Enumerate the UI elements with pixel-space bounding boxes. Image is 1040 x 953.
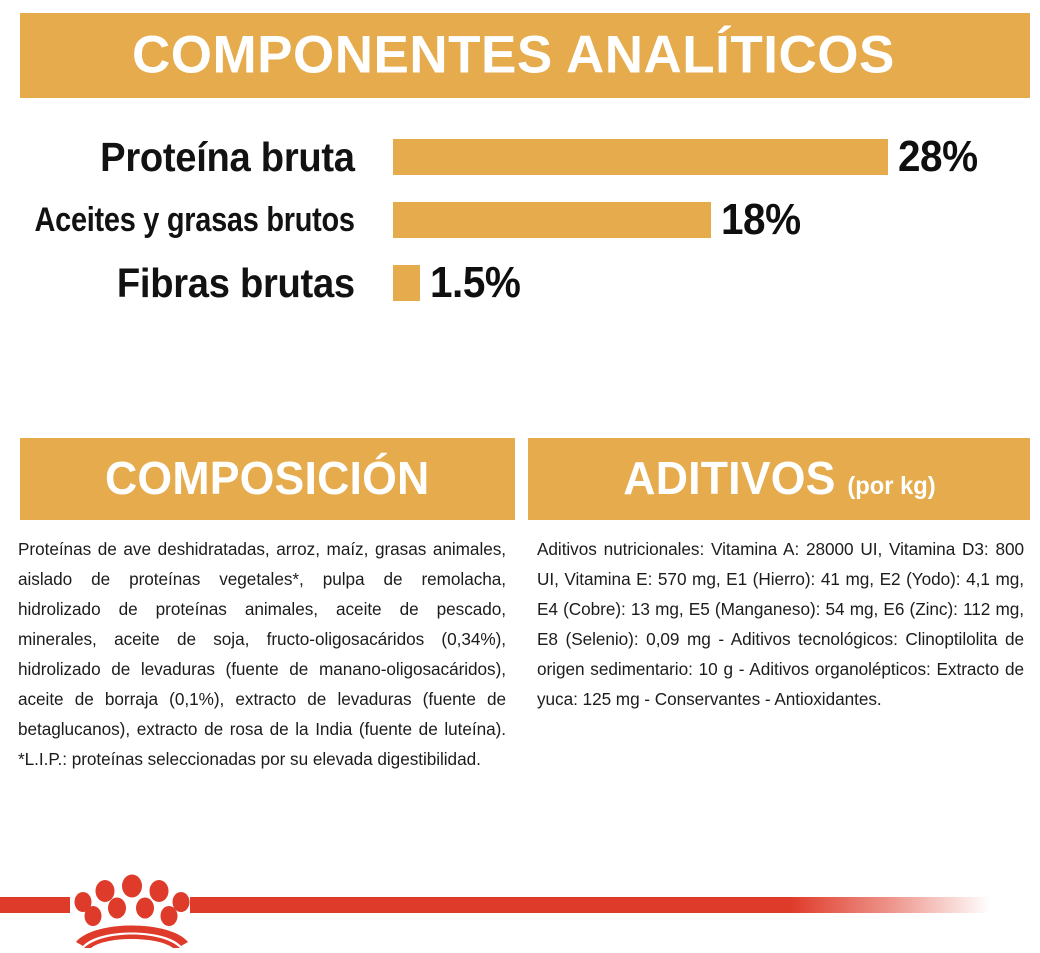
additives-title: ADITIVOS (623, 455, 835, 501)
chart-row: Aceites y grasas brutos 18% (0, 189, 1040, 251)
additives-body-text: Aditivos nutricionales: Vitamina A: 2800… (528, 534, 1024, 714)
bar-value-label: 28% (898, 131, 978, 183)
composition-section: COMPOSICIÓN Proteínas de ave deshidratad… (20, 438, 515, 774)
bar-track: 1.5% (393, 265, 923, 301)
analytical-components-chart: Proteína bruta 28% Aceites y grasas brut… (0, 126, 1040, 321)
royal-canin-crown-icon (72, 860, 192, 948)
bar-category-label: Fibras brutas (117, 252, 355, 314)
bar-category-label: Aceites y grasas brutos (35, 189, 355, 251)
bar-value-label: 1.5% (430, 257, 520, 309)
chart-row: Proteína bruta 28% (0, 126, 1040, 188)
bar-fill (393, 139, 888, 175)
composition-body-text: Proteínas de ave deshidratadas, arroz, m… (18, 534, 506, 774)
bar-fill (393, 265, 420, 301)
chart-row: Fibras brutas 1.5% (0, 252, 1040, 314)
analytical-components-banner: COMPONENTES ANALÍTICOS (20, 13, 1030, 98)
bar-fill (393, 202, 711, 238)
composition-title: COMPOSICIÓN (105, 455, 429, 501)
additives-section: ADITIVOS(por kg) Aditivos nutricionales:… (528, 438, 1030, 714)
additives-subtitle: (por kg) (847, 474, 935, 499)
bar-category-label: Proteína bruta (100, 126, 355, 188)
composition-banner: COMPOSICIÓN (20, 438, 515, 520)
page-title: COMPONENTES ANALÍTICOS (132, 28, 895, 81)
footer-rule-left (0, 897, 70, 913)
footer-rule-right (190, 897, 1000, 913)
bar-value-label: 18% (721, 194, 801, 246)
bar-track: 18% (393, 202, 923, 238)
footer (0, 860, 1040, 948)
bar-track: 28% (393, 139, 923, 175)
additives-banner: ADITIVOS(por kg) (528, 438, 1030, 520)
